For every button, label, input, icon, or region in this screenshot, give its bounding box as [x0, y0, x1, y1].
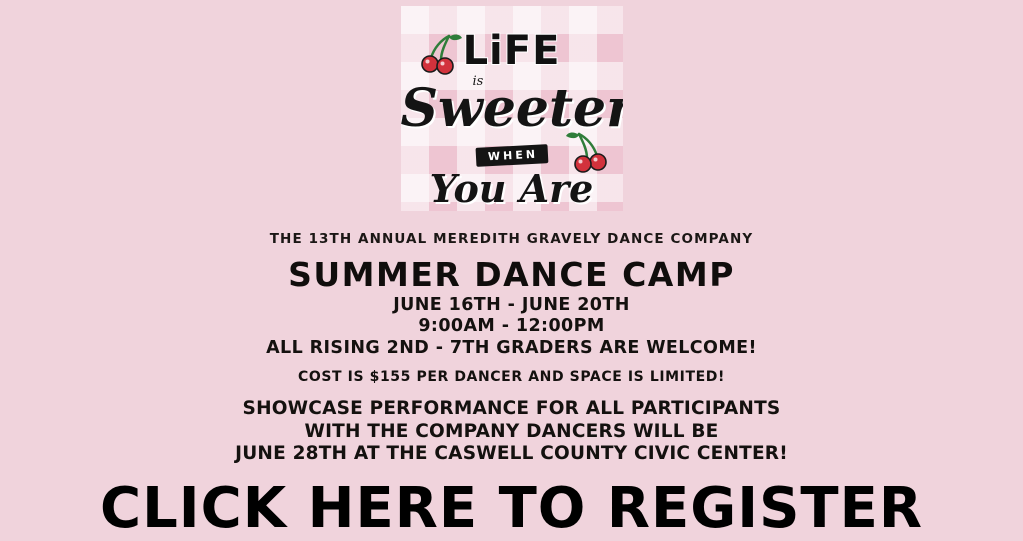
- flyer-showcase-line-2: WITH THE COMPANY DANCERS WILL BE: [0, 421, 1023, 443]
- logo-artwork: LiFE is Sweeter WHEN You Are: [401, 6, 623, 211]
- flyer-text-block: THE 13TH ANNUAL MEREDITH GRAVELY DANCE C…: [0, 211, 1023, 537]
- flyer-kicker: THE 13TH ANNUAL MEREDITH GRAVELY DANCE C…: [0, 231, 1023, 247]
- flyer-cost: COST IS $155 PER DANCER AND SPACE IS LIM…: [0, 369, 1023, 385]
- flyer-eligibility: ALL RISING 2ND - 7TH GRADERS ARE WELCOME…: [0, 339, 1023, 359]
- flyer-poster: LiFE is Sweeter WHEN You Are THE 13TH AN…: [0, 0, 1023, 537]
- flyer-headline: SUMMER DANCE CAMP: [0, 255, 1023, 294]
- flyer-times: 9:00AM - 12:00PM: [0, 317, 1023, 337]
- logo-line-3: You Are: [401, 166, 623, 211]
- logo-gingham-panel: LiFE is Sweeter WHEN You Are: [401, 6, 623, 211]
- flyer-showcase: SHOWCASE PERFORMANCE FOR ALL PARTICIPANT…: [0, 398, 1023, 465]
- flyer-showcase-line-3: JUNE 28TH AT THE CASWELL COUNTY CIVIC CE…: [0, 443, 1023, 465]
- logo-badge-when: WHEN: [475, 144, 548, 167]
- register-link[interactable]: CLICK HERE TO REGISTER: [0, 481, 1023, 537]
- flyer-showcase-line-1: SHOWCASE PERFORMANCE FOR ALL PARTICIPANT…: [0, 398, 1023, 420]
- logo-line-1: LiFE: [401, 28, 623, 74]
- flyer-dates: JUNE 16TH - JUNE 20TH: [0, 296, 1023, 316]
